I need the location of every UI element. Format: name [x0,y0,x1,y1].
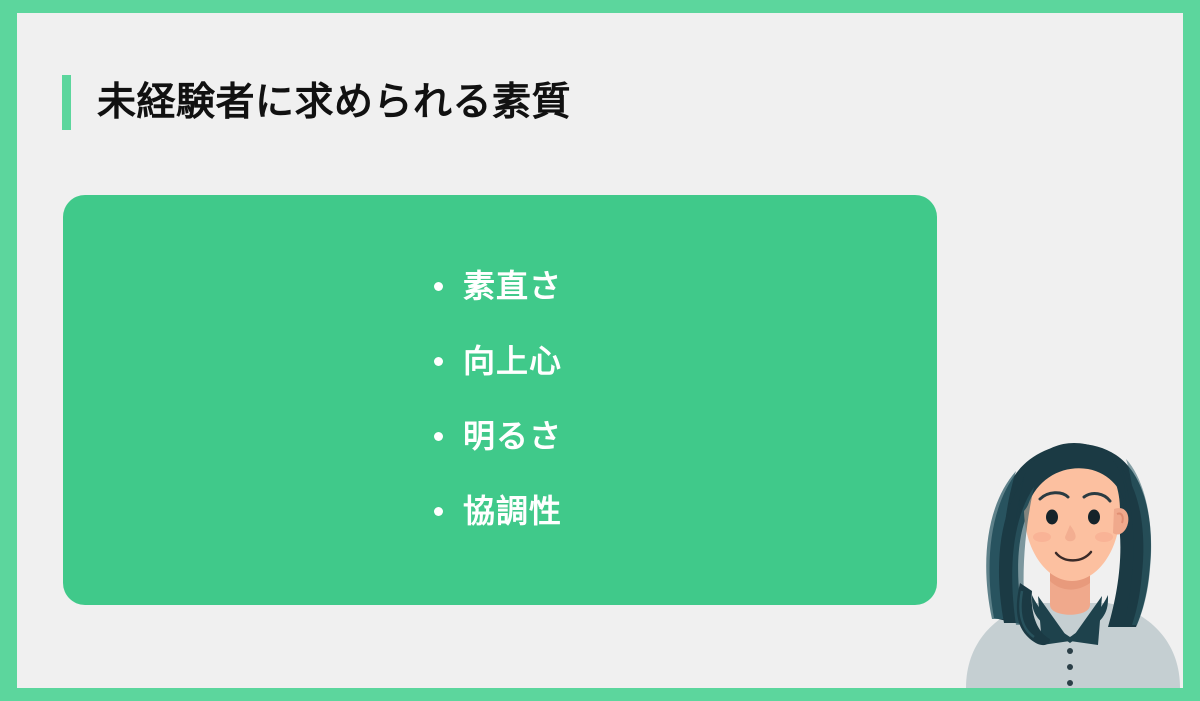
blouse-button [1067,648,1073,654]
page-title: 未経験者に求められる素質 [62,74,571,130]
bullet-dot-icon [434,282,443,291]
list-item: 素直さ [434,258,562,314]
page-title-text: 未経験者に求められる素質 [97,83,571,122]
list-item: 明るさ [434,408,562,464]
qualities-list: 素直さ 向上心 明るさ 協調性 [434,258,562,539]
eye-right [1088,510,1100,525]
bullet-dot-icon [434,507,443,516]
list-item: 向上心 [434,333,562,389]
blouse-button [1067,680,1073,686]
blouse-button [1067,664,1073,670]
qualities-card: 素直さ 向上心 明るさ 協調性 [63,195,937,605]
slide-root: 未経験者に求められる素質 素直さ 向上心 明るさ 協調性 [0,0,1200,701]
list-item-label: 協調性 [463,495,562,527]
bullet-dot-icon [434,357,443,366]
list-item-label: 素直さ [463,270,562,302]
slide-canvas: 未経験者に求められる素質 素直さ 向上心 明るさ 協調性 [17,13,1183,688]
eye-left [1046,510,1058,525]
woman-illustration [958,413,1183,688]
list-item-label: 向上心 [463,345,562,377]
list-item-label: 明るさ [463,420,562,452]
title-accent-bar [62,75,71,130]
list-item: 協調性 [434,483,562,539]
bullet-dot-icon [434,432,443,441]
